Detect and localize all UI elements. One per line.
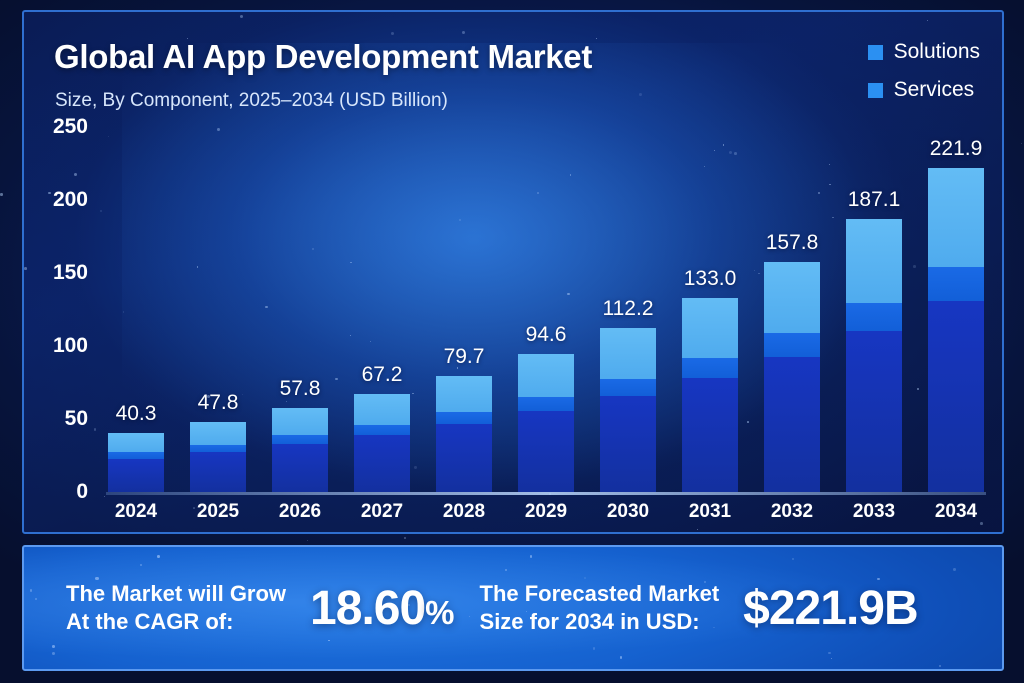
bar-value-label: 112.2 bbox=[603, 297, 654, 321]
bar-segment-solutions bbox=[518, 411, 574, 492]
bar-segment-top bbox=[272, 408, 328, 435]
bar-segment-services bbox=[764, 333, 820, 357]
bar-group: 40.347.857.867.279.794.6112.2133.0157.81… bbox=[106, 127, 986, 492]
bar-value-label: 47.8 bbox=[198, 391, 239, 415]
stacked-bar[interactable] bbox=[436, 376, 492, 492]
bar-column[interactable]: 40.3 bbox=[106, 127, 166, 492]
bar-value-label: 187.1 bbox=[848, 188, 901, 212]
stacked-bar[interactable] bbox=[682, 298, 738, 492]
x-axis-tick: 2026 bbox=[270, 501, 330, 523]
bar-column[interactable]: 157.8 bbox=[762, 127, 822, 492]
bar-segment-services bbox=[272, 435, 328, 444]
x-axis-tick: 2025 bbox=[188, 501, 248, 523]
bar-segment-services bbox=[354, 425, 410, 435]
bar-segment-solutions bbox=[764, 357, 820, 492]
bar-column[interactable]: 133.0 bbox=[680, 127, 740, 492]
y-axis-tick: 250 bbox=[53, 115, 88, 139]
bar-segment-services bbox=[600, 379, 656, 396]
x-axis-tick: 2029 bbox=[516, 501, 576, 523]
forecast-label-line2: Size for 2034 in USD: bbox=[480, 609, 700, 634]
bar-segment-solutions bbox=[108, 459, 164, 492]
bar-column[interactable]: 47.8 bbox=[188, 127, 248, 492]
bar-value-label: 79.7 bbox=[444, 345, 485, 369]
bar-column[interactable]: 187.1 bbox=[844, 127, 904, 492]
infographic-canvas: Global AI App Development Market Size, B… bbox=[0, 0, 1024, 683]
stacked-bar[interactable] bbox=[190, 422, 246, 492]
bar-segment-top bbox=[108, 433, 164, 452]
bar-segment-top bbox=[846, 219, 902, 303]
legend-swatch-icon bbox=[868, 45, 883, 60]
bar-value-label: 57.8 bbox=[280, 377, 321, 401]
x-axis-tick: 2032 bbox=[762, 501, 822, 523]
bar-segment-solutions bbox=[436, 424, 492, 492]
y-axis: 050100150200250 bbox=[36, 127, 88, 492]
x-axis-tick: 2027 bbox=[352, 501, 412, 523]
bar-segment-top bbox=[190, 422, 246, 444]
y-axis-tick: 200 bbox=[53, 188, 88, 212]
bar-segment-services bbox=[190, 445, 246, 452]
bar-value-label: 221.9 bbox=[930, 137, 983, 161]
chart-subtitle: Size, By Component, 2025–2034 (USD Billi… bbox=[55, 90, 448, 112]
x-axis: 2024202520262027202820292030203120322033… bbox=[106, 501, 986, 523]
bar-column[interactable]: 221.9 bbox=[926, 127, 986, 492]
plot-area: 050100150200250 40.347.857.867.279.794.6… bbox=[94, 127, 988, 524]
stacked-bar[interactable] bbox=[764, 262, 820, 492]
bar-column[interactable]: 79.7 bbox=[434, 127, 494, 492]
y-axis-tick: 0 bbox=[76, 480, 88, 504]
cagr-label-line1: The Market will Grow bbox=[66, 581, 286, 606]
bar-segment-solutions bbox=[682, 378, 738, 492]
cagr-value: 18.60% bbox=[310, 581, 453, 636]
bar-segment-top bbox=[600, 328, 656, 379]
x-axis-line bbox=[106, 492, 986, 495]
stacked-bar[interactable] bbox=[600, 328, 656, 492]
stacked-bar[interactable] bbox=[518, 354, 574, 492]
y-axis-tick: 150 bbox=[53, 261, 88, 285]
bar-segment-services bbox=[436, 412, 492, 424]
legend-item-solutions[interactable]: Solutions bbox=[868, 40, 980, 64]
forecast-label: The Forecasted Market Size for 2034 in U… bbox=[480, 580, 720, 636]
forecast-label-line1: The Forecasted Market bbox=[480, 581, 720, 606]
summary-banner: The Market will Grow At the CAGR of: 18.… bbox=[22, 545, 1004, 671]
legend-swatch-icon bbox=[868, 83, 883, 98]
bar-segment-top bbox=[764, 262, 820, 333]
x-axis-tick: 2033 bbox=[844, 501, 904, 523]
stacked-bar[interactable] bbox=[846, 219, 902, 492]
chart-panel: Global AI App Development Market Size, B… bbox=[22, 10, 1004, 534]
bar-value-label: 40.3 bbox=[116, 402, 157, 426]
chart-legend: Solutions Services bbox=[868, 40, 980, 102]
bar-column[interactable]: 67.2 bbox=[352, 127, 412, 492]
forecast-value: $221.9B bbox=[743, 581, 917, 636]
stacked-bar[interactable] bbox=[928, 168, 984, 492]
x-axis-tick: 2028 bbox=[434, 501, 494, 523]
cagr-number: 18.60 bbox=[310, 582, 425, 635]
chart-title: Global AI App Development Market bbox=[54, 38, 592, 76]
bar-column[interactable]: 94.6 bbox=[516, 127, 576, 492]
bar-segment-services bbox=[682, 358, 738, 378]
bar-segment-solutions bbox=[846, 331, 902, 492]
legend-label: Services bbox=[894, 78, 975, 102]
stacked-bar[interactable] bbox=[108, 433, 164, 492]
y-axis-tick: 50 bbox=[65, 407, 88, 431]
bar-segment-top bbox=[518, 354, 574, 397]
bar-value-label: 133.0 bbox=[684, 267, 737, 291]
bar-segment-solutions bbox=[600, 396, 656, 492]
bar-segment-services bbox=[928, 267, 984, 300]
bar-segment-solutions bbox=[928, 301, 984, 492]
bar-column[interactable]: 57.8 bbox=[270, 127, 330, 492]
bar-column[interactable]: 112.2 bbox=[598, 127, 658, 492]
bar-segment-solutions bbox=[354, 435, 410, 492]
bar-segment-services bbox=[518, 397, 574, 411]
x-axis-tick: 2034 bbox=[926, 501, 986, 523]
bar-segment-top bbox=[436, 376, 492, 413]
bar-value-label: 67.2 bbox=[362, 363, 403, 387]
bar-segment-top bbox=[928, 168, 984, 267]
bar-segment-top bbox=[354, 394, 410, 425]
percent-sign: % bbox=[425, 594, 453, 631]
stacked-bar[interactable] bbox=[354, 394, 410, 492]
bar-value-label: 157.8 bbox=[766, 231, 819, 255]
stacked-bar[interactable] bbox=[272, 408, 328, 492]
legend-item-services[interactable]: Services bbox=[868, 78, 975, 102]
x-axis-tick: 2030 bbox=[598, 501, 658, 523]
x-axis-tick: 2031 bbox=[680, 501, 740, 523]
bar-segment-solutions bbox=[272, 444, 328, 492]
cagr-label-line2: At the CAGR of: bbox=[66, 609, 233, 634]
x-axis-tick: 2024 bbox=[106, 501, 166, 523]
bar-segment-top bbox=[682, 298, 738, 358]
cagr-label: The Market will Grow At the CAGR of: bbox=[66, 580, 286, 636]
legend-label: Solutions bbox=[894, 40, 980, 64]
y-axis-tick: 100 bbox=[53, 334, 88, 358]
bar-segment-services bbox=[846, 303, 902, 331]
bar-value-label: 94.6 bbox=[526, 323, 567, 347]
bar-segment-solutions bbox=[190, 452, 246, 492]
